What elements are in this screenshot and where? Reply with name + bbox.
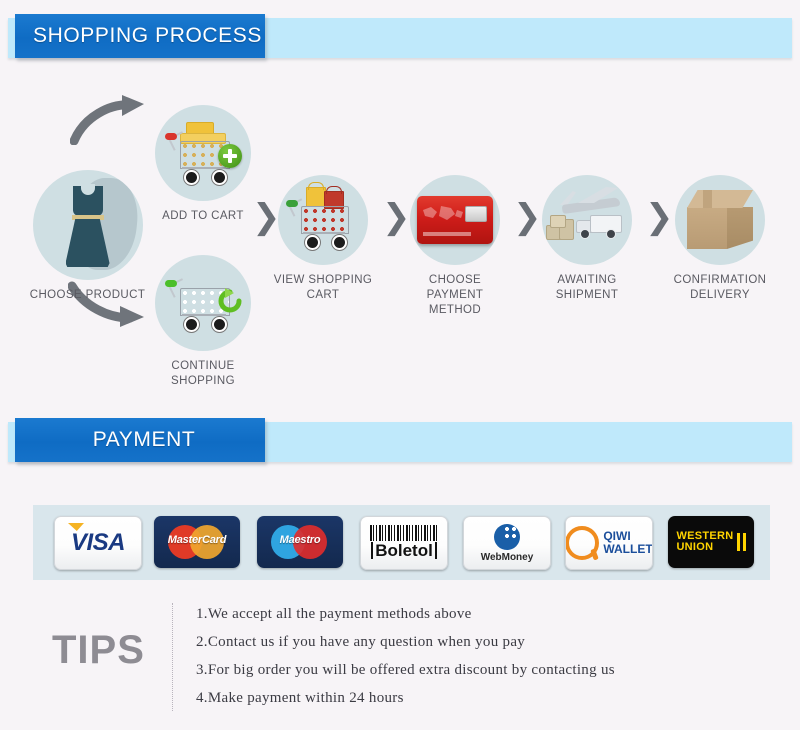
webmoney-globe-icon [494, 524, 520, 550]
tips-divider [172, 603, 173, 711]
shopping-process-title: SHOPPING PROCESS [15, 24, 265, 48]
process-step-label: CONTINUE SHOPPING [143, 359, 263, 389]
tips-heading: TIPS [52, 628, 145, 673]
shopping-process-header: SHOPPING PROCESS [8, 18, 792, 58]
webmoney-logo-text: WebMoney [481, 552, 534, 563]
process-step-label: ADD TO CART [143, 209, 263, 224]
cart-add-icon [155, 105, 251, 201]
payment-logo-visa[interactable]: VISA [54, 516, 142, 570]
payment-title: PAYMENT [15, 428, 265, 452]
tips-section: TIPS 1.We accept all the payment methods… [0, 600, 800, 715]
dress-icon [33, 170, 143, 280]
process-step-choose-product: CHOOSE PRODUCT [20, 170, 155, 303]
shopping-process-title-tab: SHOPPING PROCESS [15, 14, 265, 58]
package-box-icon [675, 175, 765, 265]
process-step-label: AWAITING SHIPMENT [532, 273, 642, 303]
payment-logo-qiwi[interactable]: QIWI WALLET [565, 516, 653, 570]
payment-header: PAYMENT [8, 422, 792, 462]
qiwi-logo-line2: WALLET [603, 543, 652, 556]
tips-list-item: 2.Contact us if you have any question wh… [196, 628, 796, 656]
mastercard-logo-text: MasterCard [162, 534, 232, 546]
credit-card-icon [410, 175, 500, 265]
mastercard-circles-icon: MasterCard [162, 525, 232, 559]
shopping-process-diagram: CHOOSE PRODUCT ADD TO CART [0, 75, 800, 395]
tips-list-item: 3.For big order you will be offered extr… [196, 656, 796, 684]
cart-refresh-icon [155, 255, 251, 351]
process-step-label: CONFIRMATION DELIVERY [665, 273, 775, 303]
maestro-circles-icon: Maestro [265, 525, 335, 559]
process-step-label: CHOOSE PAYMENT METHOD [400, 273, 510, 318]
qiwi-q-icon [565, 526, 599, 560]
cart-full-icon [278, 175, 368, 265]
payment-logo-maestro[interactable]: Maestro [257, 516, 343, 568]
process-step-confirmation-delivery: CONFIRMATION DELIVERY [665, 175, 775, 303]
payment-logo-boleto[interactable]: Boletol [360, 516, 448, 570]
visa-logo-text: VISA [71, 529, 125, 557]
payment-logo-mastercard[interactable]: MasterCard [154, 516, 240, 568]
curved-arrow-up-icon [70, 95, 150, 150]
boleto-logo-text: Boletol [371, 542, 437, 559]
process-step-continue-shopping: CONTINUE SHOPPING [143, 255, 263, 389]
payment-logo-webmoney[interactable]: WebMoney [463, 516, 551, 570]
barcode-icon [370, 525, 438, 541]
western-union-bars-icon [737, 533, 746, 551]
payment-methods-band: VISA MasterCard Maestro Boletol WebMoney [33, 505, 770, 580]
payment-title-tab: PAYMENT [15, 418, 265, 462]
tips-list-item: 1.We accept all the payment methods abov… [196, 600, 796, 628]
tips-list: 1.We accept all the payment methods abov… [196, 600, 796, 712]
process-step-awaiting-shipment: AWAITING SHIPMENT [532, 175, 642, 303]
payment-logo-western-union[interactable]: WESTERN UNION [668, 516, 754, 568]
plane-truck-icon [542, 175, 632, 265]
western-union-logo-line2: UNION [676, 542, 733, 553]
process-step-label: CHOOSE PRODUCT [20, 288, 155, 303]
process-step-view-cart: VIEW SHOPPING CART [268, 175, 378, 303]
process-step-choose-payment: CHOOSE PAYMENT METHOD [400, 175, 510, 318]
tips-list-item: 4.Make payment within 24 hours [196, 684, 796, 712]
visa-swoosh-icon [68, 523, 84, 531]
process-step-add-to-cart: ADD TO CART [143, 105, 263, 224]
process-step-label: VIEW SHOPPING CART [268, 273, 378, 303]
maestro-logo-text: Maestro [265, 534, 335, 546]
